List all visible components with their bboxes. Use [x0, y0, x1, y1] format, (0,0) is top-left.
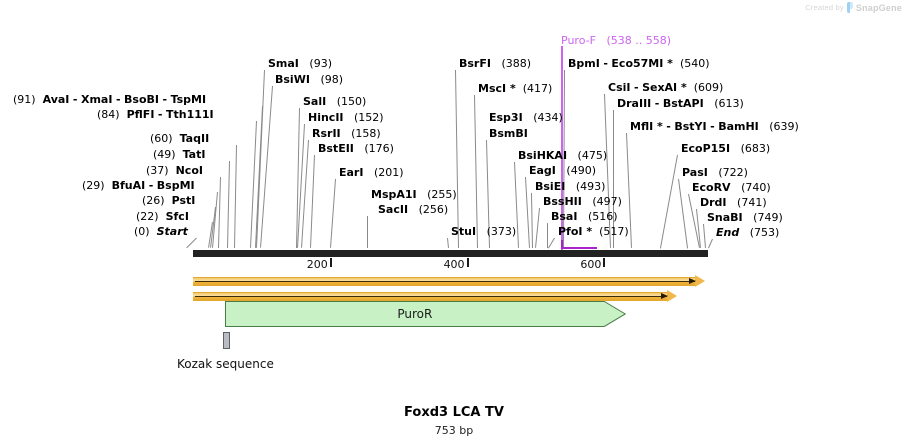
primer-label-puro-f[interactable]: Puro-F (538 .. 558) — [561, 35, 671, 47]
watermark-created-by: Created by — [805, 3, 844, 12]
site-label-pflfi-tth111i[interactable]: (84) PflFI - Tth111I — [97, 109, 214, 121]
site-label-mspa1i[interactable]: MspA1I (255) — [371, 189, 457, 201]
map-length-label: 753 bp — [0, 424, 908, 437]
site-label-sali[interactable]: SalI (150) — [303, 96, 366, 108]
page-title: Foxd3 LCA TV — [0, 405, 908, 420]
site-label-taqii[interactable]: (60) TaqII — [150, 133, 209, 145]
watermark-brand: SnapGene — [856, 3, 902, 13]
snapgene-logo-icon — [847, 2, 853, 13]
arrow-head — [695, 275, 705, 287]
ruler-tick-600 — [603, 258, 605, 267]
leader-taqii — [234, 145, 237, 248]
site-label-bsshii[interactable]: BssHII (497) — [543, 196, 622, 208]
site-label-bsai[interactable]: BsaI (516) — [551, 211, 618, 223]
leader-tati — [227, 161, 230, 248]
site-label-bsiei[interactable]: BsiEI (493) — [535, 181, 605, 193]
site-label-bsihkai[interactable]: BsiHKAI (475) — [518, 150, 607, 162]
primer-bracket-puro-f[interactable] — [561, 240, 597, 250]
feature-box-kozak[interactable] — [223, 332, 230, 349]
primer-bracket-bar — [561, 247, 597, 249]
site-label-bsrfi[interactable]: BsrFI (388) — [459, 58, 531, 70]
site-label-bpmi-eco57mi[interactable]: BpmI - Eco57MI * (540) — [568, 58, 710, 70]
site-label-bsmbi[interactable]: BsmBI — [489, 128, 528, 140]
site-label-sfci[interactable]: (22) SfcI — [136, 211, 189, 223]
site-label-draiii-bstapi[interactable]: DraIII - BstAPI (613) — [617, 98, 744, 110]
leader-pfoi — [548, 238, 555, 249]
site-label-ecop15i[interactable]: EcoP15I (683) — [681, 143, 770, 155]
site-label-pasi[interactable]: PasI (722) — [682, 167, 748, 179]
arrow-head-inner — [689, 278, 696, 284]
site-label-start[interactable]: (0) Start — [134, 226, 188, 238]
leader-ecop15i — [660, 155, 678, 248]
site-label-drdi[interactable]: DrdI (741) — [700, 197, 767, 209]
leader-smai — [256, 70, 265, 248]
leader-ncoi — [218, 177, 221, 248]
leader-bsrfi — [455, 70, 459, 248]
sequence-backbone[interactable] — [193, 250, 708, 257]
leader-bsai — [547, 223, 548, 248]
leader-pasi — [678, 179, 688, 248]
leader-bsteii — [310, 155, 315, 248]
ruler-label-200: 200 — [307, 258, 328, 271]
site-label-smai[interactable]: SmaI (93) — [268, 58, 332, 70]
site-label-bstEii[interactable]: BstEII (176) — [318, 143, 394, 155]
leader-start — [186, 238, 197, 249]
site-label-eari[interactable]: EarI (201) — [339, 167, 404, 179]
site-label-tati[interactable]: (49) TatI — [153, 149, 205, 161]
site-label-sacii[interactable]: SacII (256) — [378, 204, 448, 216]
leader-end — [708, 239, 713, 248]
ruler-tick-400 — [467, 258, 469, 267]
site-label-end[interactable]: End (753) — [716, 227, 779, 239]
feature-arrow-puror[interactable]: PuroR — [225, 301, 626, 327]
site-label-ncoi[interactable]: (37) NcoI — [146, 165, 203, 177]
feature-label-kozak: Kozak sequence — [177, 357, 274, 371]
snapgene-map-canvas: Created by SnapGene (91) AvaI - XmaI - B… — [0, 0, 908, 446]
leader-mspa1i — [367, 216, 368, 248]
site-label-snabi[interactable]: SnaBI (749) — [707, 212, 783, 224]
arrow-head — [667, 290, 677, 302]
site-label-psti[interactable]: (26) PstI — [142, 195, 195, 207]
ruler-label-600: 600 — [580, 258, 601, 271]
leader-eagi — [525, 177, 530, 248]
leader-bsiei — [531, 193, 533, 248]
site-label-bfuai-bspmi[interactable]: (29) BfuAI - BspMI — [82, 180, 195, 192]
site-label-ecorv[interactable]: EcoRV (740) — [692, 182, 771, 194]
site-label-rsrii[interactable]: RsrII (158) — [312, 128, 381, 140]
translation-arrow-2[interactable] — [193, 292, 677, 301]
site-label-mfli-bstyi-bamhi[interactable]: MflI * - BstYI - BamHI (639) — [630, 121, 799, 133]
site-label-avai-xmai-bsobi-tspmi[interactable]: (91) AvaI - XmaI - BsoBI - TspMI — [13, 94, 206, 106]
leader-snabi — [703, 224, 706, 248]
site-label-msci[interactable]: MscI * (417) — [478, 83, 552, 95]
site-label-eagi[interactable]: EagI (490) — [529, 165, 596, 177]
leader-bsshii — [535, 208, 540, 248]
site-label-bsiwi[interactable]: BsiWI (98) — [275, 74, 343, 86]
site-label-esp3i[interactable]: Esp3I (434) — [489, 112, 563, 124]
ruler-tick-200 — [330, 258, 332, 267]
leader-eari — [330, 179, 336, 248]
snapgene-watermark: Created by SnapGene — [805, 2, 902, 13]
leader-drdi — [696, 209, 701, 248]
feature-arrow-label: PuroR — [225, 301, 604, 327]
site-label-stui[interactable]: StuI (373) — [451, 226, 516, 238]
site-label-pfoi[interactable]: PfoI * (517) — [558, 226, 629, 238]
site-label-csii-sexai[interactable]: CsiI - SexAI * (609) — [608, 82, 723, 94]
site-label-hincii[interactable]: HincII (152) — [308, 112, 384, 124]
arrow-head-inner — [661, 293, 668, 299]
arrow-shaft — [195, 281, 695, 282]
leader-stui — [447, 238, 449, 248]
arrow-shaft — [195, 296, 667, 297]
translation-arrow-1[interactable] — [193, 277, 705, 286]
ruler-label-400: 400 — [444, 258, 465, 271]
